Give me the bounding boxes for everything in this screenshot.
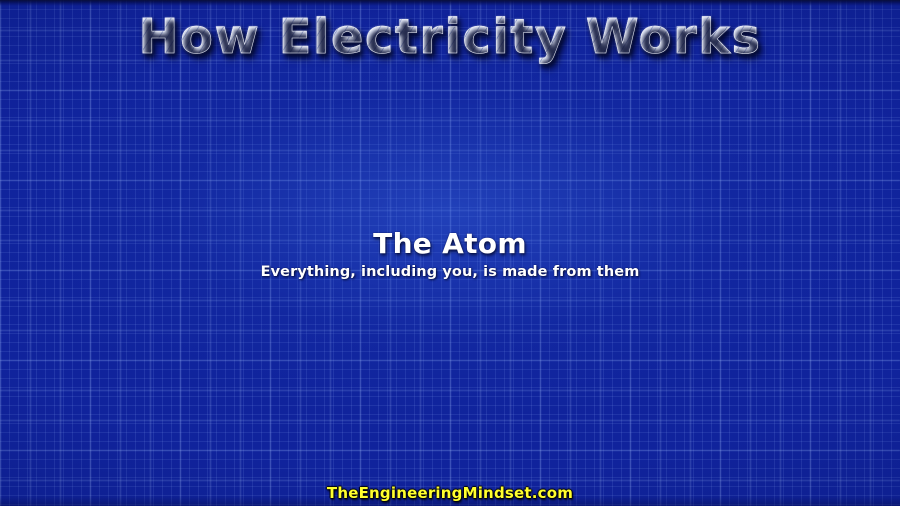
section-subheading: Everything, including you, is made from … [0, 262, 900, 282]
page-title: How Electricity Works [138, 6, 761, 68]
slide-canvas: How Electricity Works The Atom Everythin… [0, 0, 900, 506]
center-content-block: The Atom Everything, including you, is m… [0, 228, 900, 282]
title-area: How Electricity Works [0, 6, 900, 68]
section-heading: The Atom [0, 228, 900, 260]
footer-credit-watermark: TheEngineeringMindset.com [327, 484, 573, 502]
footer-area: TheEngineeringMindset.com [0, 483, 900, 503]
